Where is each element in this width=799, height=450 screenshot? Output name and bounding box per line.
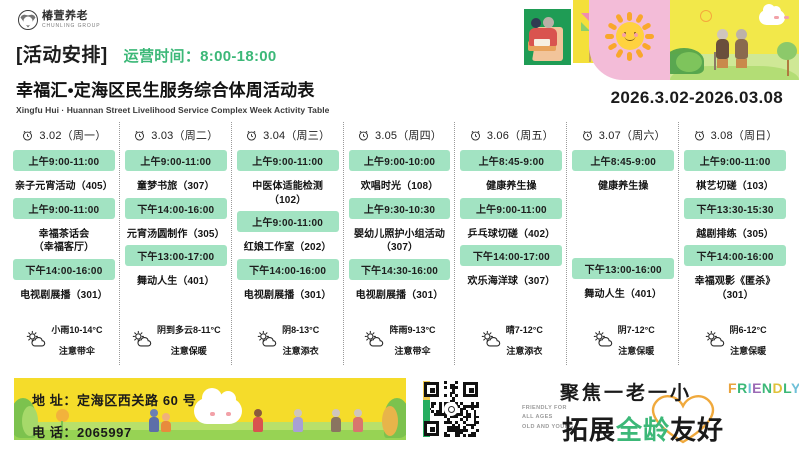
day-header: 3.02（周一） <box>13 124 115 146</box>
fan-leaf-icon <box>18 10 38 30</box>
slot-activity-name: 越剧排练（305） <box>684 228 786 242</box>
header-illustration <box>510 0 799 80</box>
activity-slot[interactable]: 上午9:00-11:00 棋艺切磋（103） <box>684 150 786 194</box>
slot-activity-name: 舞动人生（401） <box>125 275 227 289</box>
day-header: 3.08（周日） <box>684 124 786 146</box>
activity-slot[interactable]: 下午13:00-16:00 舞动人生（401） <box>572 258 674 302</box>
weather-temp: 晴7-12°C <box>506 325 543 335</box>
page-title: 幸福汇•定海区民生服务综合体周活动表 <box>16 76 329 101</box>
slot-activity-name: 舞动人生（401） <box>572 288 674 302</box>
slot-time-badge: 上午9:00-11:00 <box>125 150 227 171</box>
weather-temp: 阴7-12°C <box>618 325 655 335</box>
activity-slot[interactable]: 上午9:00-11:00 中医体适能检测（102） <box>237 150 339 207</box>
slot-time-badge: 下午14:00-17:00 <box>460 245 562 266</box>
qr-code-icon[interactable] <box>420 378 482 440</box>
sun-behind-cloud-icon <box>592 330 614 348</box>
slot-activity-name: 乒乓球切磋（402） <box>460 228 562 242</box>
day-header: 3.03（周二） <box>125 124 227 146</box>
title-block: [活动安排] 运营时间：8:00-18:00 幸福汇•定海区民生服务综合体周活动… <box>16 40 329 115</box>
slot-time-badge: 下午13:00-16:00 <box>572 258 674 279</box>
schedule-day-column: 3.04（周三） 上午9:00-11:00 中医体适能检测（102） 上午9:0… <box>232 120 344 365</box>
schedule-day-column: 3.03（周二） 上午9:00-11:00 童梦书旅（307） 下午14:00-… <box>120 120 232 365</box>
activity-slot[interactable]: 上午9:00-11:00 红娘工作室（202） <box>237 211 339 255</box>
slot-activity-name: 童梦书旅（307） <box>125 180 227 194</box>
day-weather: 阴到多云8-11°C 注意保暖 <box>125 318 227 361</box>
slot-time-badge: 下午14:30-16:00 <box>349 259 451 280</box>
phone-text: 电 话：2065997 <box>32 422 196 440</box>
slot-activity-name: 婴幼儿照护小组活动（307） <box>349 228 451 255</box>
slot-activity-name: 健康养生操 <box>572 180 674 194</box>
sun-behind-cloud-icon <box>25 330 47 348</box>
day-weather: 晴7-12°C 注意添衣 <box>460 318 562 361</box>
weather-advice: 注意带伞 <box>394 346 430 356</box>
slogan-block: 聚焦一老一小 FRIENDLY FRIENDLY FOR ALL AGES OL… <box>520 374 795 446</box>
sun-panel <box>589 0 670 80</box>
day-weather: 小雨10-14°C 注意带伞 <box>13 318 115 361</box>
weather-advice: 注意保暖 <box>730 346 766 356</box>
slot-activity-name: 亲子元宵活动（405） <box>13 180 115 194</box>
poster-header: 椿萱养老 CHUNLING GROUP [活动安排] 运营时间：8:00-18:… <box>0 0 799 118</box>
grandparent-reading-illustration <box>524 9 571 65</box>
alarm-clock-icon <box>581 129 594 142</box>
slot-time-badge: 上午9:00-11:00 <box>13 198 115 219</box>
weather-temp: 阴8-13°C <box>282 325 319 335</box>
brand-logo: 椿萱养老 CHUNLING GROUP <box>18 10 100 30</box>
bracket-title: [活动安排] <box>16 40 108 67</box>
sun-behind-cloud-icon <box>256 330 278 348</box>
activity-slot[interactable]: 下午13:00-17:00 舞动人生（401） <box>125 245 227 289</box>
brand-name-en: CHUNLING GROUP <box>42 24 100 29</box>
activity-schedule-poster: 椿萱养老 CHUNLING GROUP [活动安排] 运营时间：8:00-18:… <box>0 0 799 450</box>
alarm-clock-icon <box>245 129 258 142</box>
schedule-day-column: 3.07（周六） 上午8:45-9:00 健康养生操 下午13:00-16:00… <box>567 120 679 365</box>
activity-slot[interactable]: 下午14:00-16:00 电视剧展播（301） <box>13 259 115 303</box>
weather-temp: 阴6-12°C <box>730 325 767 335</box>
slot-time-badge: 下午14:00-16:00 <box>237 259 339 280</box>
sun-behind-cloud-icon <box>704 330 726 348</box>
slot-time-badge: 上午9:00-11:00 <box>237 150 339 171</box>
slot-activity-name: 欢乐海洋球（307） <box>460 275 562 289</box>
weather-advice: 注意保暖 <box>171 346 207 356</box>
weekly-schedule-table: 3.02（周一） 上午9:00-11:00 亲子元宵活动（405） 上午9:00… <box>8 120 791 365</box>
slot-time-badge: 下午14:00-16:00 <box>13 259 115 280</box>
activity-slot[interactable]: 上午9:00-10:00 欢唱时光（108） <box>349 150 451 194</box>
activity-slot[interactable]: 上午8:45-9:00 健康养生操 <box>572 150 674 194</box>
slot-time-badge: 上午9:00-11:00 <box>13 150 115 171</box>
address-text: 地 址：定海区西关路 60 号 <box>32 390 196 409</box>
slot-activity-name: 中医体适能检测（102） <box>237 180 339 207</box>
activity-slot[interactable]: 下午13:30-15:30 越剧排练（305） <box>684 198 786 242</box>
slot-activity-name: 电视剧展播（301） <box>13 289 115 303</box>
day-date-label: 3.05（周四） <box>375 127 442 143</box>
slot-time-badge: 上午8:45-9:00 <box>460 150 562 171</box>
slot-time-badge: 下午14:00-16:00 <box>125 198 227 219</box>
slot-time-badge: 下午13:00-17:00 <box>125 245 227 266</box>
alarm-clock-icon <box>469 129 482 142</box>
slot-activity-name: 幸福茶话会（幸福客厅） <box>13 228 115 255</box>
alarm-clock-icon <box>357 129 370 142</box>
weather-advice: 注意保暖 <box>618 346 654 356</box>
activity-slot[interactable]: 下午14:30-16:00 电视剧展播（301） <box>349 259 451 303</box>
activity-slot[interactable]: 上午9:00-11:00 亲子元宵活动（405） <box>13 150 115 194</box>
slogan-friendly-text: FRIENDLY <box>728 380 799 396</box>
alarm-clock-icon <box>21 129 34 142</box>
day-weather: 阴8-13°C 注意添衣 <box>237 318 339 361</box>
day-weather: 阴7-12°C 注意保暖 <box>572 318 674 361</box>
sun-behind-cloud-icon <box>363 330 385 348</box>
slot-time-badge: 上午9:00-11:00 <box>684 150 786 171</box>
slot-time-badge: 下午14:00-16:00 <box>684 245 786 266</box>
slot-time-badge: 上午9:00-11:00 <box>237 211 339 232</box>
day-date-label: 3.02（周一） <box>39 127 106 143</box>
weather-temp: 阵雨9-13°C <box>389 325 435 335</box>
activity-slot[interactable]: 上午8:45-9:00 健康养生操 <box>460 150 562 194</box>
day-weather: 阵雨9-13°C 注意带伞 <box>349 318 451 361</box>
day-date-label: 3.07（周六） <box>599 127 666 143</box>
brand-name-cn: 椿萱养老 <box>42 11 100 22</box>
schedule-day-column: 3.05（周四） 上午9:00-10:00 欢唱时光（108） 上午9:30-1… <box>344 120 456 365</box>
slot-activity-name: 电视剧展播（301） <box>237 289 339 303</box>
activity-slot[interactable]: 上午9:00-11:00 乒乓球切磋（402） <box>460 198 562 242</box>
poster-footer: 地 址：定海区西关路 60 号 电 话：2065997 聚焦一老一小 FRIEN… <box>0 368 799 450</box>
slot-time-badge: 上午9:00-11:00 <box>460 198 562 219</box>
slot-activity-name: 健康养生操 <box>460 180 562 194</box>
elderly-couple-walking-illustration <box>670 0 799 80</box>
alarm-clock-icon <box>133 129 146 142</box>
activity-slot[interactable]: 上午9:30-10:30 婴幼儿照护小组活动（307） <box>349 198 451 255</box>
activity-slot[interactable]: 下午14:00-16:00 电视剧展播（301） <box>237 259 339 303</box>
date-range: 2026.3.02-2026.03.08 <box>611 88 783 108</box>
day-header: 3.05（周四） <box>349 124 451 146</box>
slot-activity-name: 欢唱时光（108） <box>349 180 451 194</box>
schedule-day-column: 3.08（周日） 上午9:00-11:00 棋艺切磋（103） 下午13:30-… <box>679 120 791 365</box>
day-date-label: 3.04（周三） <box>263 127 330 143</box>
day-date-label: 3.08（周日） <box>711 127 778 143</box>
slot-activity-name: 红娘工作室（202） <box>237 241 339 255</box>
slot-time-badge: 下午13:30-15:30 <box>684 198 786 219</box>
sun-behind-cloud-icon <box>131 330 153 348</box>
schedule-day-column: 3.02（周一） 上午9:00-11:00 亲子元宵活动（405） 上午9:00… <box>8 120 120 365</box>
alarm-clock-icon <box>693 129 706 142</box>
slot-activity-name: 元宵汤圆制作（305） <box>125 228 227 242</box>
weather-advice: 注意带伞 <box>59 346 95 356</box>
slogan-top-text: 聚焦一老一小 <box>560 378 692 405</box>
slot-activity-name: 棋艺切磋（103） <box>684 180 786 194</box>
activity-slot[interactable]: 上午9:00-11:00 童梦书旅（307） <box>125 150 227 194</box>
day-header: 3.04（周三） <box>237 124 339 146</box>
weather-advice: 注意添衣 <box>506 346 542 356</box>
slot-activity-name: 电视剧展播（301） <box>349 289 451 303</box>
empty-slot <box>572 198 674 254</box>
activity-slot[interactable]: 上午9:00-11:00 幸福茶话会（幸福客厅） <box>13 198 115 255</box>
page-subtitle-en: Xingfu Hui · Huannan Street Livelihood S… <box>16 105 329 115</box>
schedule-day-column: 3.06（周五） 上午8:45-9:00 健康养生操 上午9:00-11:00 … <box>455 120 567 365</box>
slot-time-badge: 上午9:00-10:00 <box>349 150 451 171</box>
weather-temp: 阴到多云8-11°C <box>157 325 221 335</box>
address-banner: 地 址：定海区西关路 60 号 电 话：2065997 <box>14 378 406 440</box>
sun-behind-cloud-icon <box>480 330 502 348</box>
slot-time-badge: 上午8:45-9:00 <box>572 150 674 171</box>
day-header: 3.06（周五） <box>460 124 562 146</box>
day-date-label: 3.03（周二） <box>151 127 218 143</box>
smiling-sun-icon <box>616 22 644 50</box>
weather-advice: 注意添衣 <box>283 346 319 356</box>
activity-slot[interactable]: 下午14:00-16:00 幸福观影《匿杀》（301） <box>684 245 786 302</box>
slot-time-badge: 上午9:30-10:30 <box>349 198 451 219</box>
activity-slot[interactable]: 下午14:00-16:00 元宵汤圆制作（305） <box>125 198 227 242</box>
day-date-label: 3.06（周五） <box>487 127 554 143</box>
day-weather: 阴6-12°C 注意保暖 <box>684 318 786 361</box>
slot-activity-name: 幸福观影《匿杀》（301） <box>684 275 786 302</box>
weather-temp: 小雨10-14°C <box>51 325 102 335</box>
operating-hours: 运营时间：8:00-18:00 <box>124 45 277 66</box>
activity-slot[interactable]: 下午14:00-17:00 欢乐海洋球（307） <box>460 245 562 289</box>
slogan-bottom-text: 拓展全龄友好 <box>562 410 724 447</box>
day-header: 3.07（周六） <box>572 124 674 146</box>
